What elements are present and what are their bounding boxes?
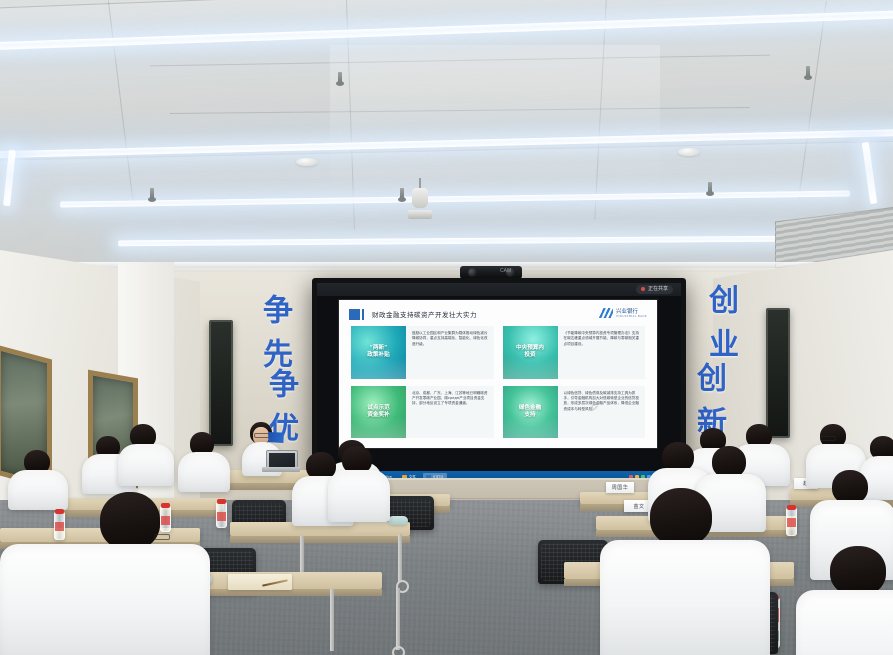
pencil-pouch: [388, 516, 408, 525]
presenter-laptop-base: [262, 467, 300, 472]
sprinkler-icon: [338, 72, 342, 85]
attendee-head: [100, 492, 160, 550]
card-body-text: 鼓励以工业园区和产业集群为载体推动绿色减污降碳协同，重点支持高端化、智能化、绿色…: [406, 326, 494, 379]
attendee-head: [832, 470, 868, 504]
presenting-badge: 正在共享: [636, 285, 673, 294]
display-screen[interactable]: 正在共享 财政金融支持碳资产开发壮大实力 兴业银行 INDUSTRIAL BAN…: [317, 283, 681, 483]
logo-subtext: INDUSTRIAL BANK: [616, 315, 647, 318]
logo-text: 兴业银行 INDUSTRIAL BANK: [616, 307, 647, 318]
desk-leg: [398, 534, 402, 582]
water-bottle: [54, 512, 65, 540]
slide-card: 试点示范 资金奖补 北京、成都、广东、上海、江苏等地已明确碳资产开发零碳产业园、…: [351, 386, 494, 439]
presenting-label: 正在共享: [648, 286, 668, 292]
window-titlebar: 正在共享: [317, 283, 681, 296]
desk-flag: [268, 432, 284, 443]
card-caption: “两新” 政策补贴: [367, 345, 389, 359]
bottle-cap: [161, 503, 170, 508]
slide-title: 财政金融支持碳资产开发壮大实力: [372, 309, 477, 319]
ceiling-sheen: [330, 45, 660, 195]
attendee-torso: [600, 540, 770, 655]
card-caption: 绿色金融 支持: [519, 405, 541, 419]
slide-card: “两新” 政策补贴 鼓励以工业园区和产业集群为载体推动绿色减污降碳协同，重点支持…: [351, 326, 494, 379]
camera-lens-icon: [468, 268, 477, 277]
ceiling: [0, 0, 893, 286]
card-body-text: 《节能降碳中央预算内投资专项管理办法》支持在碳达峰重点领域开展节能、降碳与零碳相…: [558, 326, 646, 379]
slide-card: 绿色金融 支持 以绿色信贷、绿色债券及碳减排支持工具为抓手，引导金融机构加大对低…: [503, 386, 646, 439]
card-body-text: 以绿色信贷、绿色债券及碳减排支持工具为抓手，引导金融机构加大对低碳转型企业的信贷…: [558, 386, 646, 439]
water-bottle: [216, 502, 227, 528]
bottle-cap: [217, 499, 226, 504]
bottle-cap: [55, 509, 64, 514]
desk-edge: [230, 536, 410, 543]
glasses-icon: [154, 534, 170, 540]
desk-leg: [396, 588, 400, 650]
sprinkler-icon: [150, 188, 154, 201]
bottle-label: [787, 518, 796, 527]
slide-accent-square: [349, 309, 360, 320]
slide-card: 中央预算内 投资 《节能降碳中央预算内投资专项管理办法》支持在碳达峰重点领域开展…: [503, 326, 646, 379]
card-image: 绿色金融 支持: [503, 386, 558, 439]
card-image: 试点示范 资金奖补: [351, 386, 406, 439]
slide-card-grid: “两新” 政策补贴 鼓励以工业园区和产业集群为载体推动绿色减污降碳协同，重点支持…: [351, 326, 645, 438]
attendee-head: [830, 546, 886, 596]
slide-accent-bar: [362, 309, 364, 320]
slide-canvas: 财政金融支持碳资产开发壮大实力 兴业银行 INDUSTRIAL BANK “两新…: [339, 300, 657, 448]
wall-speaker-right: [766, 308, 790, 438]
water-bottle: [160, 506, 171, 532]
name-tent: 周国华: [606, 482, 634, 493]
wall-calligraphy-right-1: 创业: [698, 284, 742, 372]
bottle-label: [55, 522, 64, 531]
ceiling-projector: [412, 188, 428, 208]
sprinkler-icon: [400, 188, 404, 201]
ceiling-speaker-dome: [678, 148, 700, 156]
training-room-photo: 争先 争优 创业 创新 CAM 正在共享 财政金融支持碳资产开发壮大实力: [0, 0, 893, 655]
ceiling-speaker-dome: [296, 158, 318, 166]
attendee-torso: [118, 444, 174, 486]
recording-dot-icon: [641, 287, 645, 291]
card-image: 中央预算内 投资: [503, 326, 558, 379]
slide-logo: 兴业银行 INDUSTRIAL BANK: [598, 307, 647, 318]
attendee-torso: [8, 470, 68, 510]
camera-label: CAM: [500, 268, 511, 274]
attendee-torso: [796, 590, 893, 655]
bottle-label: [217, 512, 226, 521]
desk-leg: [330, 589, 334, 651]
attendee-torso: [0, 544, 210, 655]
attendee-torso: [328, 470, 390, 522]
sprinkler-icon: [806, 66, 810, 79]
bottle-label: [161, 516, 170, 525]
water-bottle: [786, 508, 797, 536]
card-body-text: 北京、成都、广东、上海、江苏等地已明确碳资产开发零碳产业园、碳средн产业项目…: [406, 386, 494, 439]
card-caption: 中央预算内 投资: [516, 345, 544, 359]
desk-caster: [392, 646, 405, 655]
bank-logo-icon: [598, 308, 613, 318]
glasses-icon: [820, 436, 836, 441]
card-image: “两新” 政策补贴: [351, 326, 406, 379]
card-caption: 试点示范 资金奖补: [367, 405, 389, 419]
sprinkler-icon: [708, 182, 712, 195]
attendee-torso: [178, 452, 230, 492]
glasses-icon: [254, 433, 270, 438]
laptop-screen: [269, 453, 295, 467]
attendee-head: [650, 488, 712, 546]
projector-body: [408, 210, 432, 219]
bottle-cap: [787, 505, 796, 510]
wall-speaker-left: [209, 320, 233, 446]
